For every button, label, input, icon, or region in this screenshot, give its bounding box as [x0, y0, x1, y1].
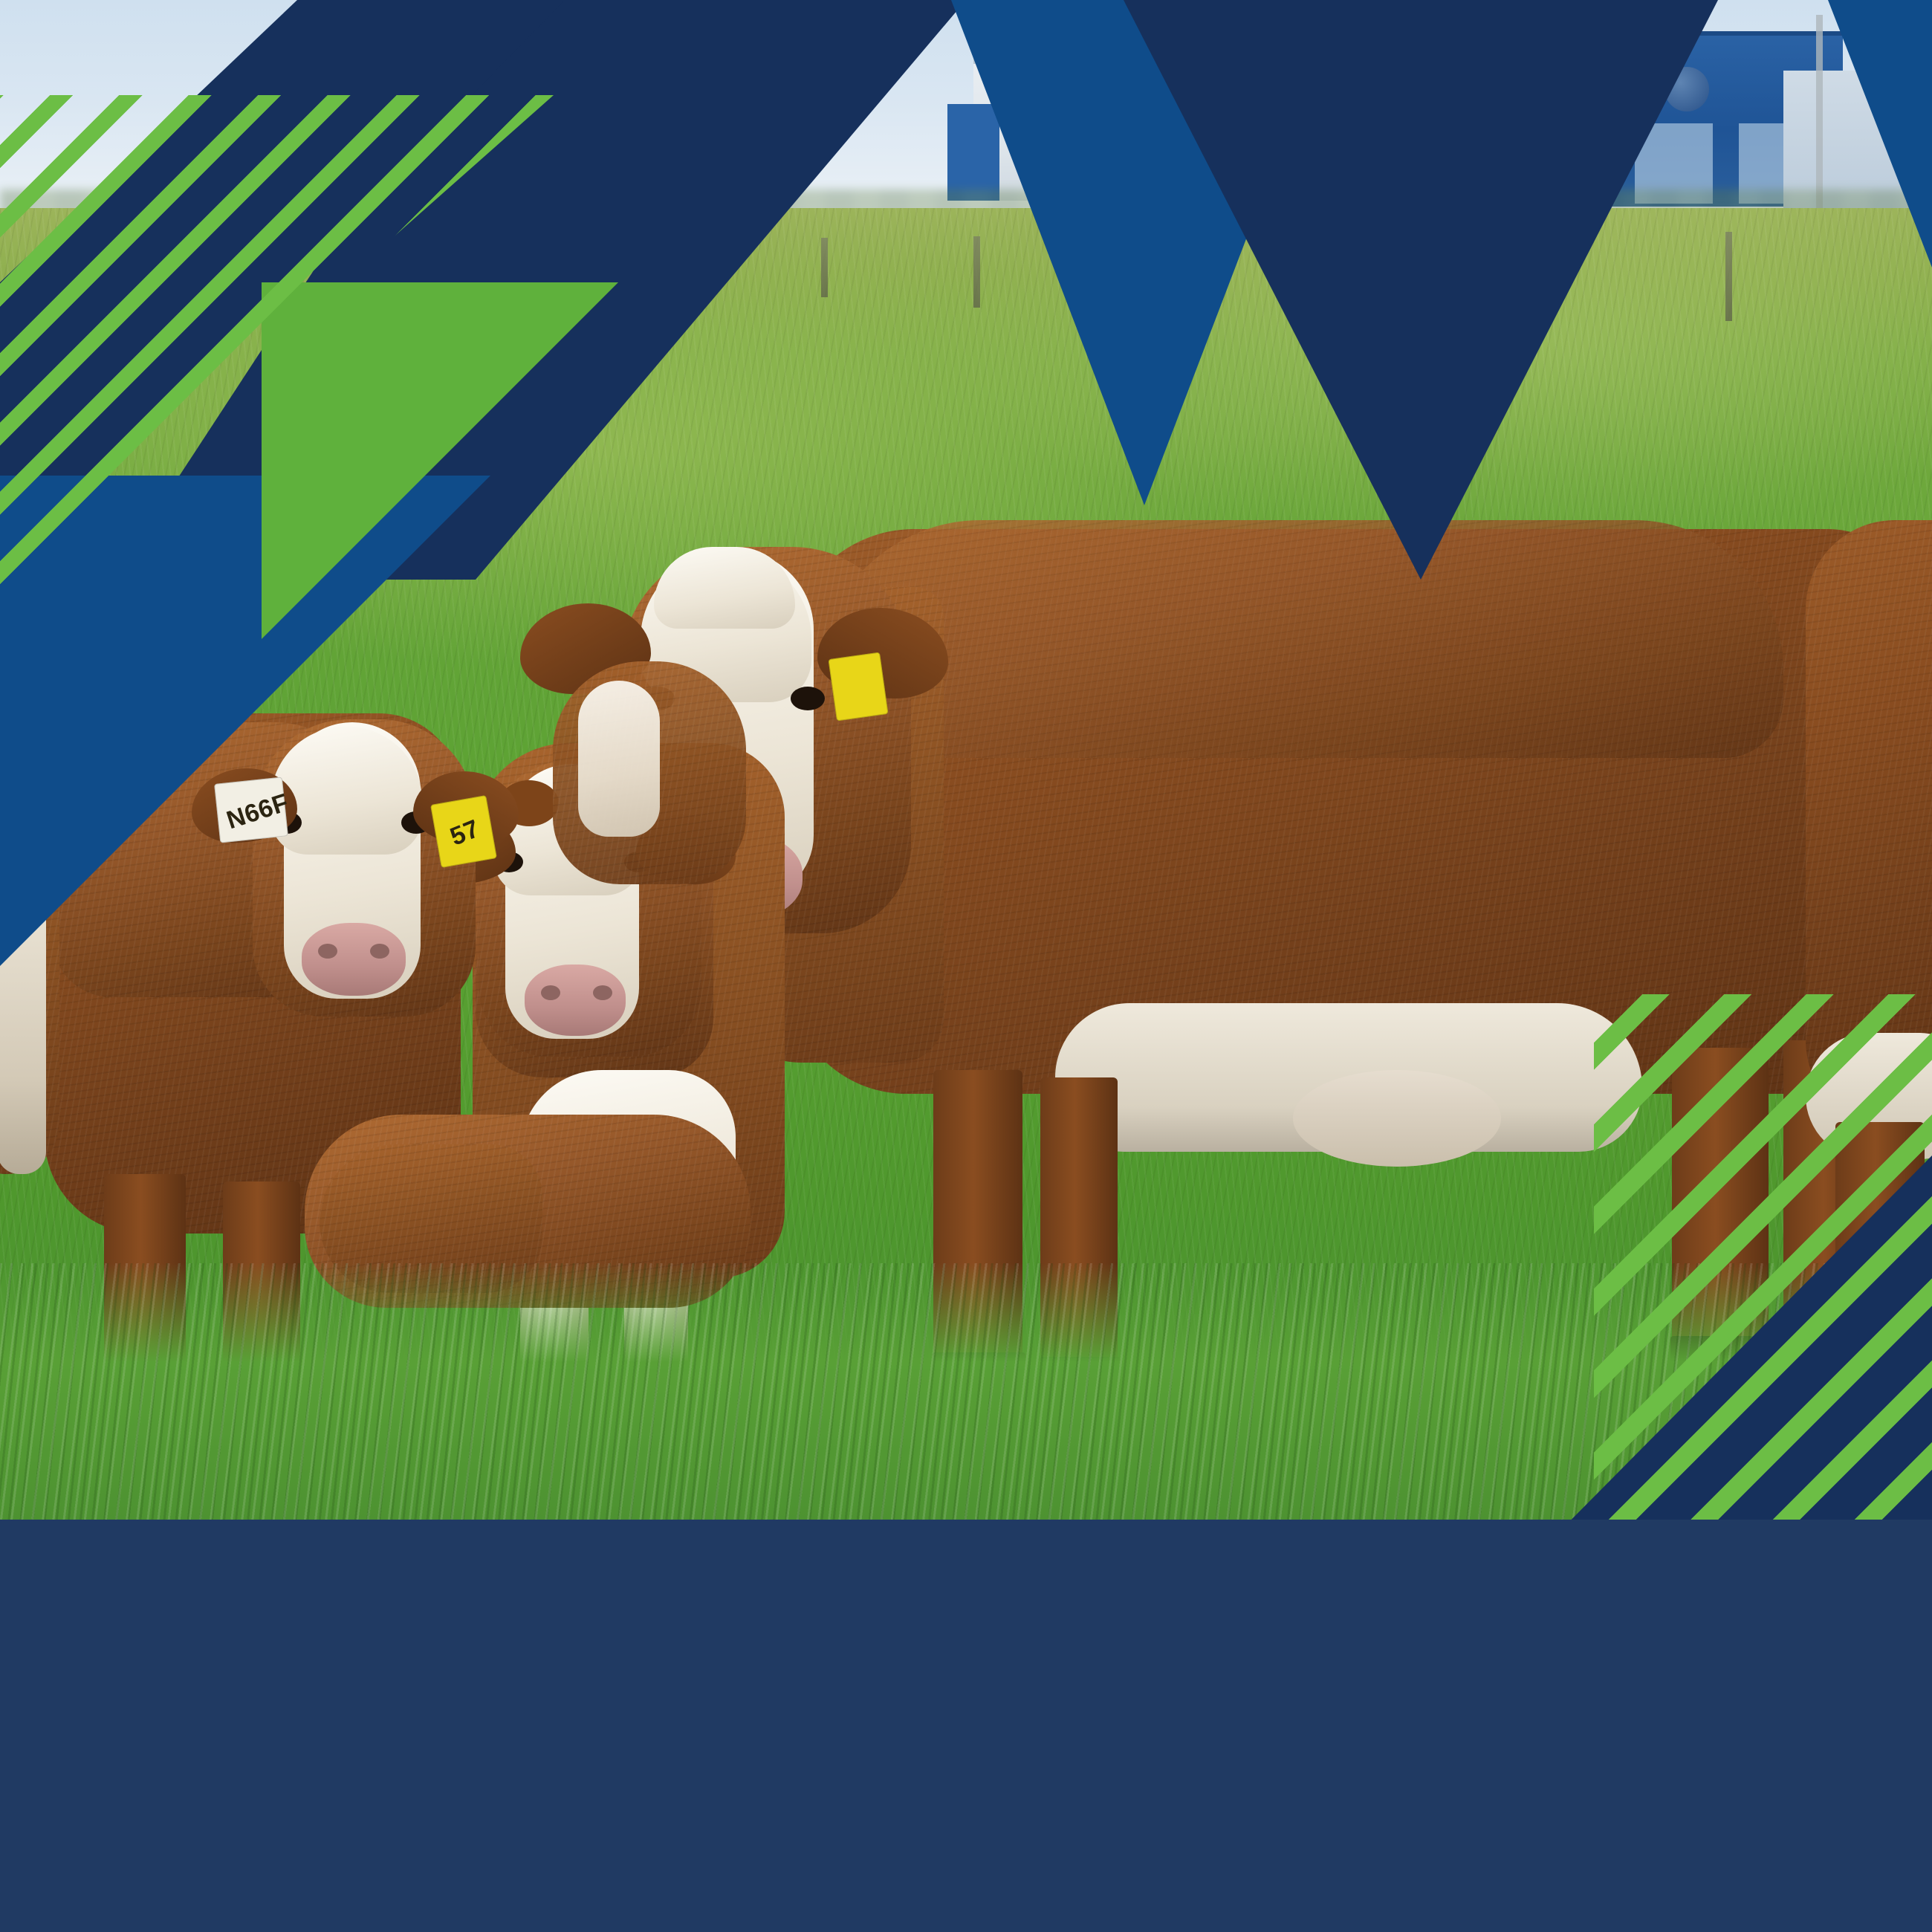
ear-tag-yellow-57: 57: [430, 795, 497, 868]
cow-eye: [791, 687, 825, 710]
title-band: Agricultural waste workshop managing on-…: [0, 1520, 1932, 1932]
hero-photograph: N66F 57: [0, 0, 1932, 1546]
fence-post: [973, 236, 980, 308]
ear-tag-white-text: N66F: [223, 788, 292, 835]
ear-tag-yellow-57-text: 57: [447, 814, 484, 852]
building-small-left: [947, 104, 999, 201]
fence-post: [821, 238, 828, 297]
fence-post: [1725, 232, 1732, 321]
poster-canvas: N66F 57: [0, 0, 1932, 1932]
ear-tag-white: N66F: [214, 777, 288, 843]
ear-tag-yellow: [828, 652, 888, 722]
green-diagonal-stripes-bottom-right: [1594, 994, 1932, 1546]
cow-udder: [1293, 1070, 1501, 1167]
